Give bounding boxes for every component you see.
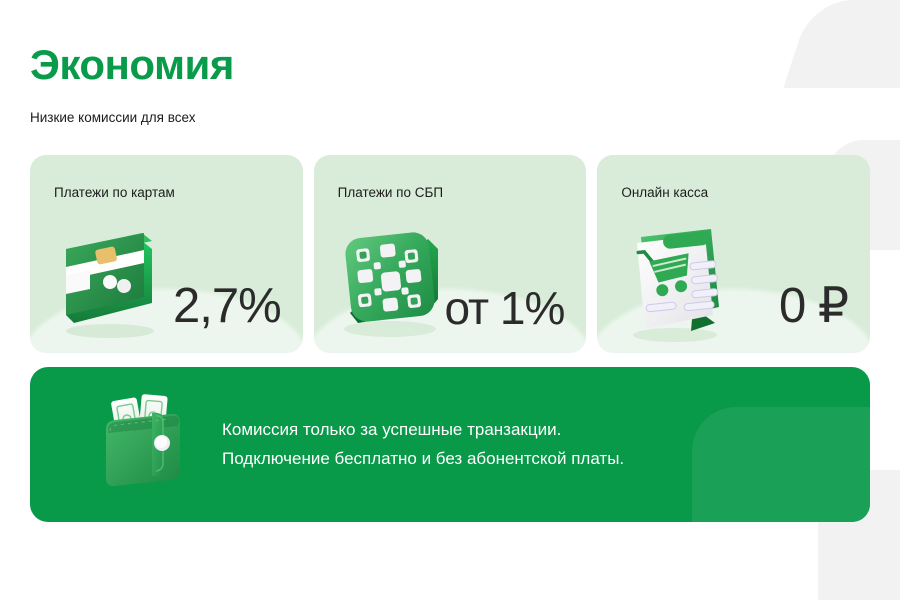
commission-banner: Комиссия только за успешные транзакции. …	[30, 367, 870, 522]
page-container: Экономия Низкие комиссии для всех Платеж…	[0, 0, 900, 522]
card-label: Платежи по СБП	[338, 185, 443, 200]
tariff-cards-row: Платежи по картам	[30, 155, 870, 353]
card-payments-by-sbp[interactable]: Платежи по СБП	[314, 155, 587, 353]
banner-text-block: Комиссия только за успешные транзакции. …	[222, 416, 624, 472]
credit-card-3d-icon	[44, 219, 174, 349]
banner-line-1: Комиссия только за успешные транзакции.	[222, 416, 624, 444]
card-value: 2,7%	[173, 282, 281, 331]
card-value: от 1%	[444, 285, 564, 331]
card-value: 0 ₽	[779, 282, 848, 331]
card-online-checkout[interactable]: Онлайн касса	[597, 155, 870, 353]
online-checkout-clipboard-3d-icon	[611, 219, 741, 349]
page-subtitle: Низкие комиссии для всех	[30, 110, 870, 125]
card-payments-by-cards[interactable]: Платежи по картам	[30, 155, 303, 353]
page-title: Экономия	[30, 44, 870, 86]
card-label: Онлайн касса	[621, 185, 708, 200]
qr-code-3d-icon	[328, 219, 458, 349]
banner-accent-shape	[692, 407, 870, 522]
card-label: Платежи по картам	[54, 185, 175, 200]
wallet-with-money-3d-icon	[92, 387, 208, 503]
banner-line-2: Подключение бесплатно и без абонентской …	[222, 445, 624, 473]
